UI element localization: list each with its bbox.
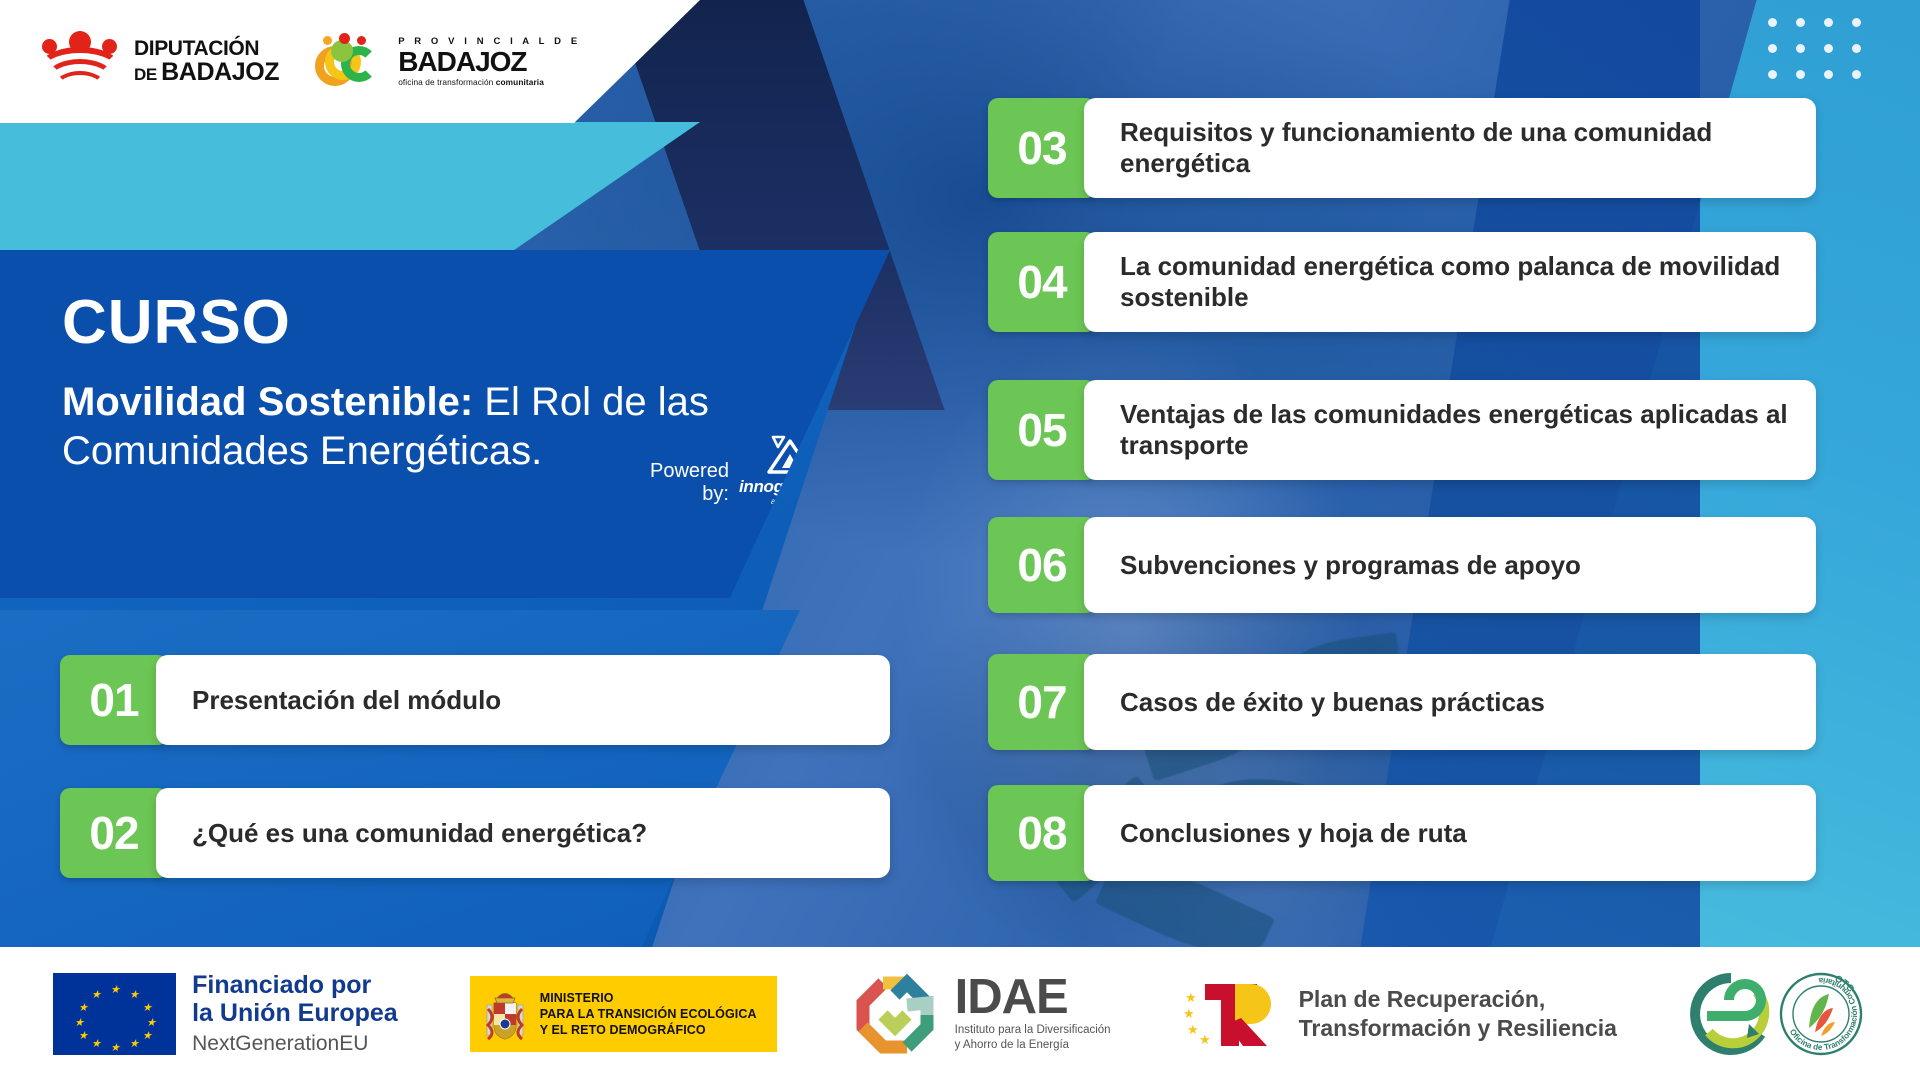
ministerio-line2: PARA LA TRANSICIÓN ECOLÓGICA <box>540 1006 757 1022</box>
list-item[interactable]: 06 Subvenciones y programas de apoyo <box>988 517 1816 613</box>
otc-wordmark: P R O V I N C I A L D E BADAJOZ oficina … <box>398 37 581 86</box>
prtr-line2: Transformación y Resiliencia <box>1299 1014 1617 1042</box>
idae-knot-icon <box>849 971 941 1057</box>
list-item-label: Casos de éxito y buenas prácticas <box>1084 654 1816 750</box>
list-item-label: La comunidad energética como palanca de … <box>1084 232 1816 332</box>
otc-subtitle-light: oficina de transformación <box>398 77 496 87</box>
eu-line1: Financiado por <box>192 971 398 999</box>
list-item-number: 03 <box>988 98 1096 198</box>
list-item-number: 02 <box>60 788 168 878</box>
slide-root: DIPUTACIÓN DE BADAJOZ P R O V I N C I A … <box>0 0 1920 1080</box>
eu-line3: NextGenerationEU <box>192 1032 398 1056</box>
diputacion-line2: BADAJOZ <box>161 58 279 86</box>
dot-grid-decor <box>1768 18 1880 96</box>
list-item[interactable]: 04 La comunidad energética como palanca … <box>988 232 1816 332</box>
otc-title: BADAJOZ <box>398 48 581 76</box>
ministerio-text: MINISTERIO PARA LA TRANSICIÓN ECOLÓGICA … <box>540 990 757 1038</box>
page-kicker: CURSO <box>62 292 890 354</box>
svg-text:★: ★ <box>1183 1006 1195 1021</box>
eu-line2: la Unión Europea <box>192 999 398 1027</box>
list-item-label: Conclusiones y hoja de ruta <box>1084 785 1816 881</box>
list-item[interactable]: 05 Ventajas de las comunidades energétic… <box>988 380 1816 480</box>
powered-by-label: Powered by: <box>650 460 729 506</box>
eu-flag-icon: ★★★ ★★ ★★ ★★ ★★ ★ <box>53 973 176 1055</box>
eu-funding-logo: ★★★ ★★ ★★ ★★ ★★ ★ Financiado por la Unió… <box>53 971 398 1056</box>
diputacion-line2-prefix: DE <box>134 65 161 84</box>
ministerio-line1: MINISTERIO <box>540 990 757 1006</box>
otc-e-icon <box>1689 972 1773 1056</box>
list-item-number: 05 <box>988 380 1096 480</box>
list-item[interactable]: 03 Requisitos y funcionamiento de una co… <box>988 98 1816 198</box>
list-item-label: Subvenciones y programas de apoyo <box>1084 517 1816 613</box>
list-item-number: 01 <box>60 655 168 745</box>
diputacion-mark-icon <box>38 31 122 93</box>
list-item-number: 07 <box>988 654 1096 750</box>
prtr-text: Plan de Recuperación, Transformación y R… <box>1299 985 1617 1041</box>
powered-by-line1: Powered <box>650 460 729 483</box>
list-item-label: ¿Qué es una comunidad energética? <box>156 788 890 878</box>
otc-mark-icon <box>315 36 389 88</box>
prtr-logo: ★ ★ ★ ★ Plan de Recuperación, Transforma… <box>1183 974 1617 1054</box>
ministerio-logo: MINISTERIO PARA LA TRANSICIÓN ECOLÓGICA … <box>470 976 777 1052</box>
page-title: Movilidad Sostenible: El Rol de las Comu… <box>62 378 722 476</box>
svg-text:★: ★ <box>1187 1022 1199 1037</box>
idae-sub1: Instituto para la Diversificación <box>955 1023 1111 1037</box>
otc-subtitle-bold: comunitaria <box>496 77 544 87</box>
list-item-number: 06 <box>988 517 1096 613</box>
list-item[interactable]: 08 Conclusiones y hoja de ruta <box>988 785 1816 881</box>
list-item-label: Presentación del módulo <box>156 655 890 745</box>
list-item-label: Ventajas de las comunidades energéticas … <box>1084 380 1816 480</box>
list-item-number: 08 <box>988 785 1096 881</box>
idae-name: IDAE <box>955 975 1111 1019</box>
diputacion-line1: DIPUTACIÓN <box>134 39 279 59</box>
otc-seal-logo: OTC Oficina de Transformación Comunitari… <box>1689 968 1867 1060</box>
svg-text:★: ★ <box>1185 990 1197 1005</box>
footer-logo-bar: ★★★ ★★ ★★ ★★ ★★ ★ Financiado por la Unió… <box>0 947 1920 1080</box>
list-item-number: 04 <box>988 232 1096 332</box>
spain-coat-of-arms-icon <box>482 985 528 1043</box>
otc-badajoz-logo: P R O V I N C I A L D E BADAJOZ oficina … <box>315 36 581 88</box>
list-item-label: Requisitos y funcionamiento de una comun… <box>1084 98 1816 198</box>
prtr-line1: Plan de Recuperación, <box>1299 985 1617 1013</box>
diputacion-wordmark: DIPUTACIÓN DE BADAJOZ <box>134 39 279 83</box>
ministerio-line3: Y EL RETO DEMOGRÁFICO <box>540 1022 757 1038</box>
otc-seal-icon: OTC Oficina de Transformación Comunitari… <box>1775 968 1867 1060</box>
svg-text:★: ★ <box>1199 1032 1211 1047</box>
powered-by-line2: by: <box>650 483 729 506</box>
page-title-bold: Movilidad Sostenible: <box>62 380 473 424</box>
idae-logo: IDAE Instituto para la Diversificación y… <box>849 971 1111 1057</box>
diputacion-badajoz-logo: DIPUTACIÓN DE BADAJOZ <box>38 31 279 93</box>
idae-sub2: y Ahorro de la Energía <box>955 1038 1111 1052</box>
list-item[interactable]: 02 ¿Qué es una comunidad energética? <box>60 788 890 878</box>
list-item[interactable]: 01 Presentación del módulo <box>60 655 890 745</box>
list-item[interactable]: 07 Casos de éxito y buenas prácticas <box>988 654 1816 750</box>
prtr-tr-icon: ★ ★ ★ ★ <box>1183 974 1283 1054</box>
